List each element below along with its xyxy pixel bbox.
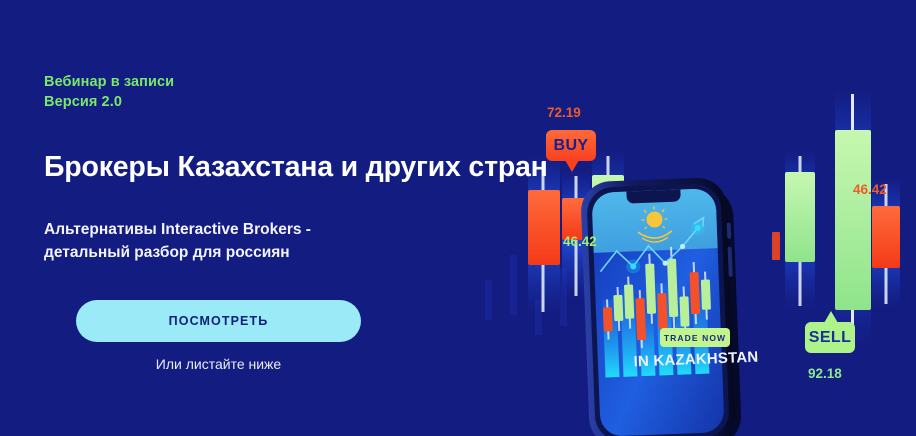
eyebrow-line-1: Вебинар в записи [44, 72, 564, 92]
promo-text-block: Вебинар в записи Версия 2.0 Брокеры Каза… [44, 72, 564, 372]
watch-button[interactable]: ПОСМОТРЕТЬ [76, 300, 361, 342]
page-title: Брокеры Казахстана и других стран [44, 150, 564, 184]
promo-banner: Вебинар в записи Версия 2.0 Брокеры Каза… [0, 0, 916, 436]
scroll-hint: Или листайте ниже [76, 356, 361, 372]
subtitle-line-2: детальный разбор для россиян [44, 241, 564, 264]
trade-now-chip[interactable]: TRADE NOW [660, 328, 730, 347]
subtitle: Альтернативы Interactive Brokers - детал… [44, 218, 564, 264]
smartphone [580, 177, 742, 436]
eyebrow-line-2: Версия 2.0 [44, 92, 564, 112]
price-label-mid-left: 46.42 [563, 234, 597, 249]
price-label-right: 46.42 [853, 182, 887, 197]
price-label-bottom-right: 92.18 [808, 366, 842, 381]
right-candle-group [772, 88, 900, 348]
subtitle-line-1: Альтернативы Interactive Brokers - [44, 218, 564, 241]
sell-badge[interactable]: SELL [805, 322, 855, 353]
